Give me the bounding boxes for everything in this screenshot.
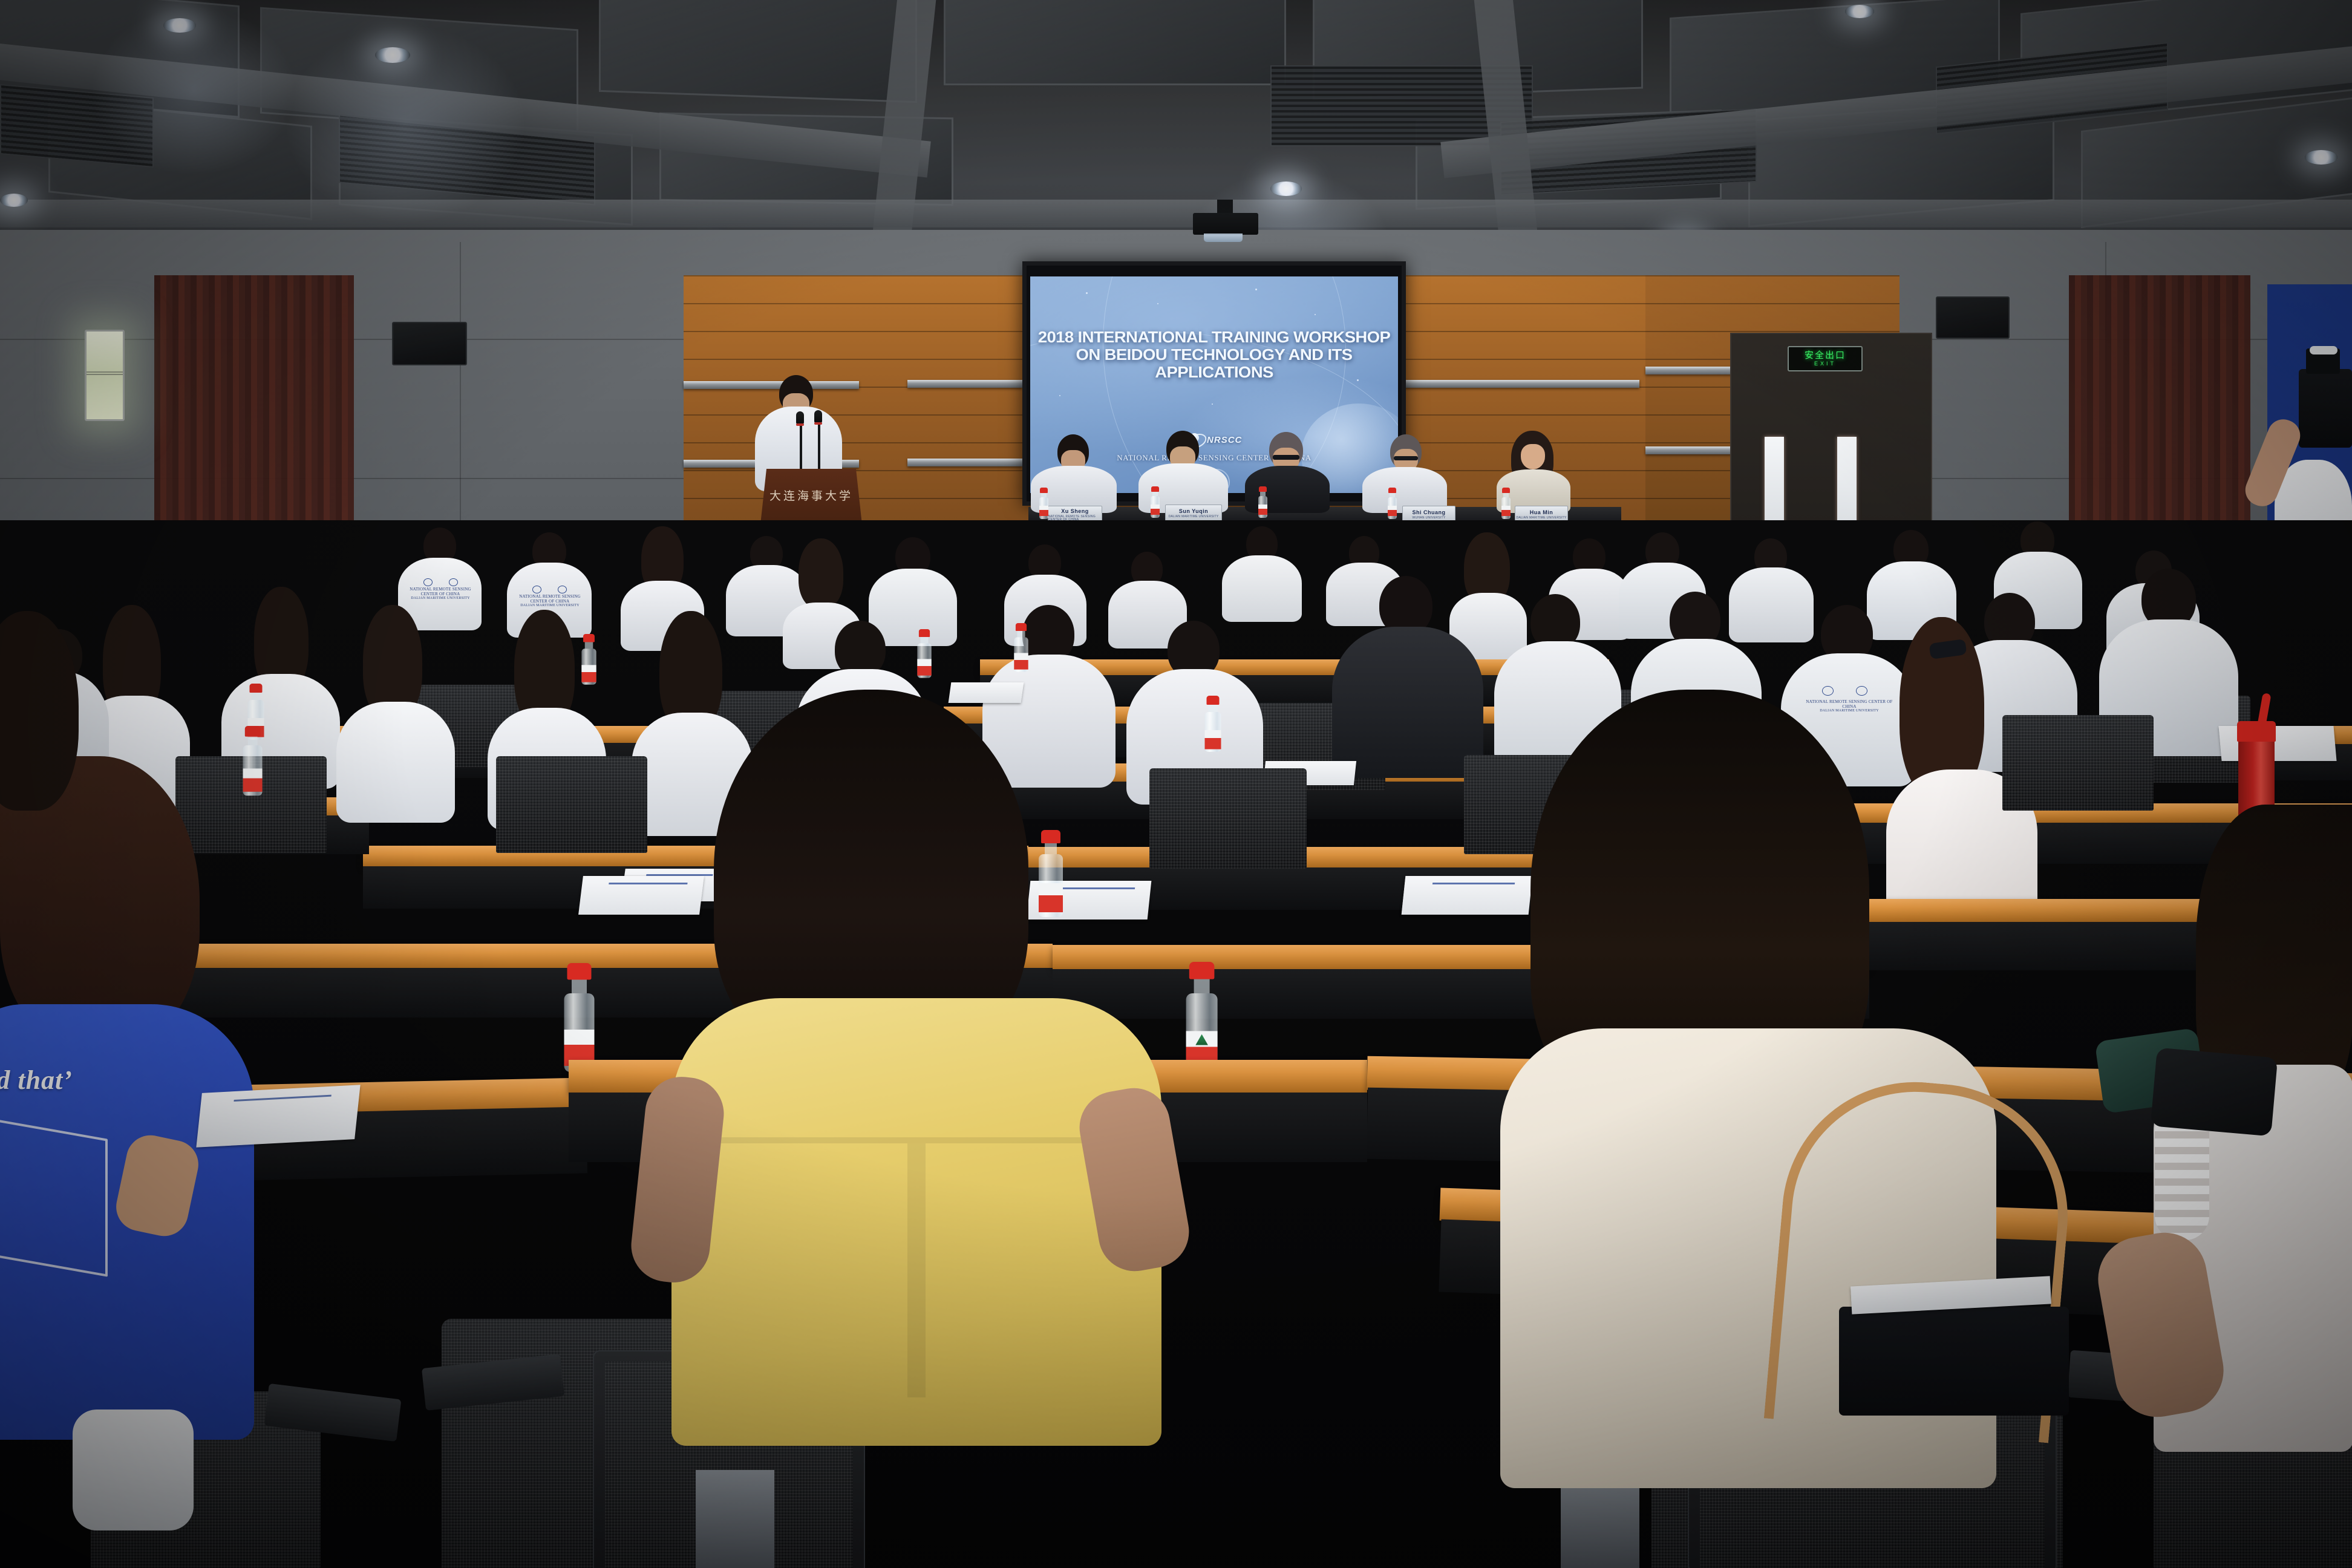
ceiling-coffer: [944, 0, 1286, 85]
wall-speaker: [1936, 296, 2010, 339]
garment-pleat: [907, 1143, 926, 1397]
handout-paper: [196, 1085, 360, 1147]
ceiling-coffer: [599, 0, 917, 103]
shirt-print: NATIONAL REMOTE SENSING CENTER OF CHINA …: [515, 594, 584, 608]
wall-metal-strip: [907, 380, 1022, 388]
handbag-body: [1839, 1307, 2069, 1416]
nameplate-name: Hua Min: [1530, 510, 1553, 515]
microphone-stand: [818, 423, 820, 475]
nameplate-name: Xu Sheng: [1061, 509, 1089, 514]
ceiling-projector: [1193, 213, 1258, 235]
panelist-shirt: [1245, 466, 1330, 513]
microphone-ring: [814, 422, 822, 425]
recessed-downlight: [2305, 150, 2337, 165]
nameplate-name: Shi Chuang: [1413, 510, 1446, 515]
blue-tshirt-text: said that’: [0, 1065, 145, 1093]
exit-sign: 安全出口 EXIT: [1788, 346, 1863, 371]
panelist-glasses: [1273, 455, 1299, 460]
tshirt-graphic-box: [0, 1111, 108, 1276]
nrscc-logo-icon: [1822, 686, 1834, 696]
video-camera: [2299, 369, 2352, 448]
shirt-print: NATIONAL REMOTE SENSING CENTER OF CHINA …: [1799, 699, 1900, 713]
nameplate-name: Sun Yuqin: [1179, 509, 1208, 514]
university-logo-icon: [1856, 686, 1867, 696]
recessed-downlight: [375, 47, 410, 63]
lecture-hall-photo: 安全出口 EXIT 2018 INTERNATIONAL TRAINING WO…: [0, 0, 2352, 1568]
exit-sign-en-text: EXIT: [1814, 361, 1836, 367]
nameplate-affiliation: DALIAN MARITIME UNIVERSITY: [1168, 515, 1218, 518]
university-logo-icon: [558, 586, 567, 593]
attendee-bag: [73, 1410, 194, 1530]
nrscc-logo-icon: [532, 586, 541, 593]
projector-lens: [1204, 234, 1243, 242]
slide-title-line2: ON BEIDOU TECHNOLOGY AND ITS APPLICATION…: [1030, 346, 1398, 381]
chair-cylinder: [696, 1470, 774, 1568]
nrscc-logo-text: NRSCC: [1207, 435, 1242, 445]
microphone-head: [796, 411, 804, 425]
wall-speaker: [392, 322, 467, 365]
bottle-cap: [2237, 721, 2276, 742]
attendee-shirt: [1729, 567, 1814, 642]
chair-back[interactable]: [496, 756, 647, 853]
handout-paper: [2218, 726, 2336, 761]
slide-title-line1: 2018 INTERNATIONAL TRAINING WORKSHOP: [1030, 328, 1398, 346]
attendee-shirt: [336, 702, 455, 823]
exit-sign-cn-text: 安全出口: [1805, 351, 1846, 360]
wall-sconce-light: [85, 330, 125, 421]
shirt-print: NATIONAL REMOTE SENSING CENTER OF CHINA …: [407, 587, 474, 601]
microphone-head: [814, 410, 822, 423]
podium-engraving: 大连海事大学: [759, 487, 863, 503]
recessed-downlight: [1845, 5, 1874, 18]
attendee-shirt: [1332, 627, 1483, 778]
chair-back[interactable]: [1149, 768, 1307, 869]
nameplate-affiliation: WUHAN UNIVERSITY: [1412, 517, 1445, 520]
wall-metal-strip: [1403, 380, 1639, 388]
attendee-shirt: [982, 655, 1116, 788]
nrscc-logo-icon: [423, 578, 433, 586]
university-logo-icon: [449, 578, 458, 586]
wall-seam: [460, 242, 461, 532]
panelist-glasses: [1394, 456, 1418, 460]
handout-paper: [949, 682, 1024, 703]
attendee-hair: [799, 538, 843, 609]
camera-microphone: [2310, 346, 2337, 354]
recessed-downlight: [0, 194, 28, 207]
handout-paper: [1402, 876, 1533, 915]
attendee-shirt: [1222, 555, 1302, 622]
chair-back[interactable]: [2002, 715, 2154, 811]
handout-paper: [578, 876, 704, 915]
panelist-face: [1521, 444, 1545, 469]
window-curtain: [154, 275, 354, 535]
wall-metal-strip: [907, 459, 1022, 466]
black-bag: [2151, 1048, 2278, 1137]
window-curtain: [2069, 275, 2250, 535]
projector-mount: [1217, 200, 1233, 214]
microphone-ring: [796, 423, 804, 426]
wall-metal-strip: [684, 381, 859, 389]
nameplate-affiliation: DALIAN MARITIME UNIVERSITY: [1516, 517, 1566, 520]
